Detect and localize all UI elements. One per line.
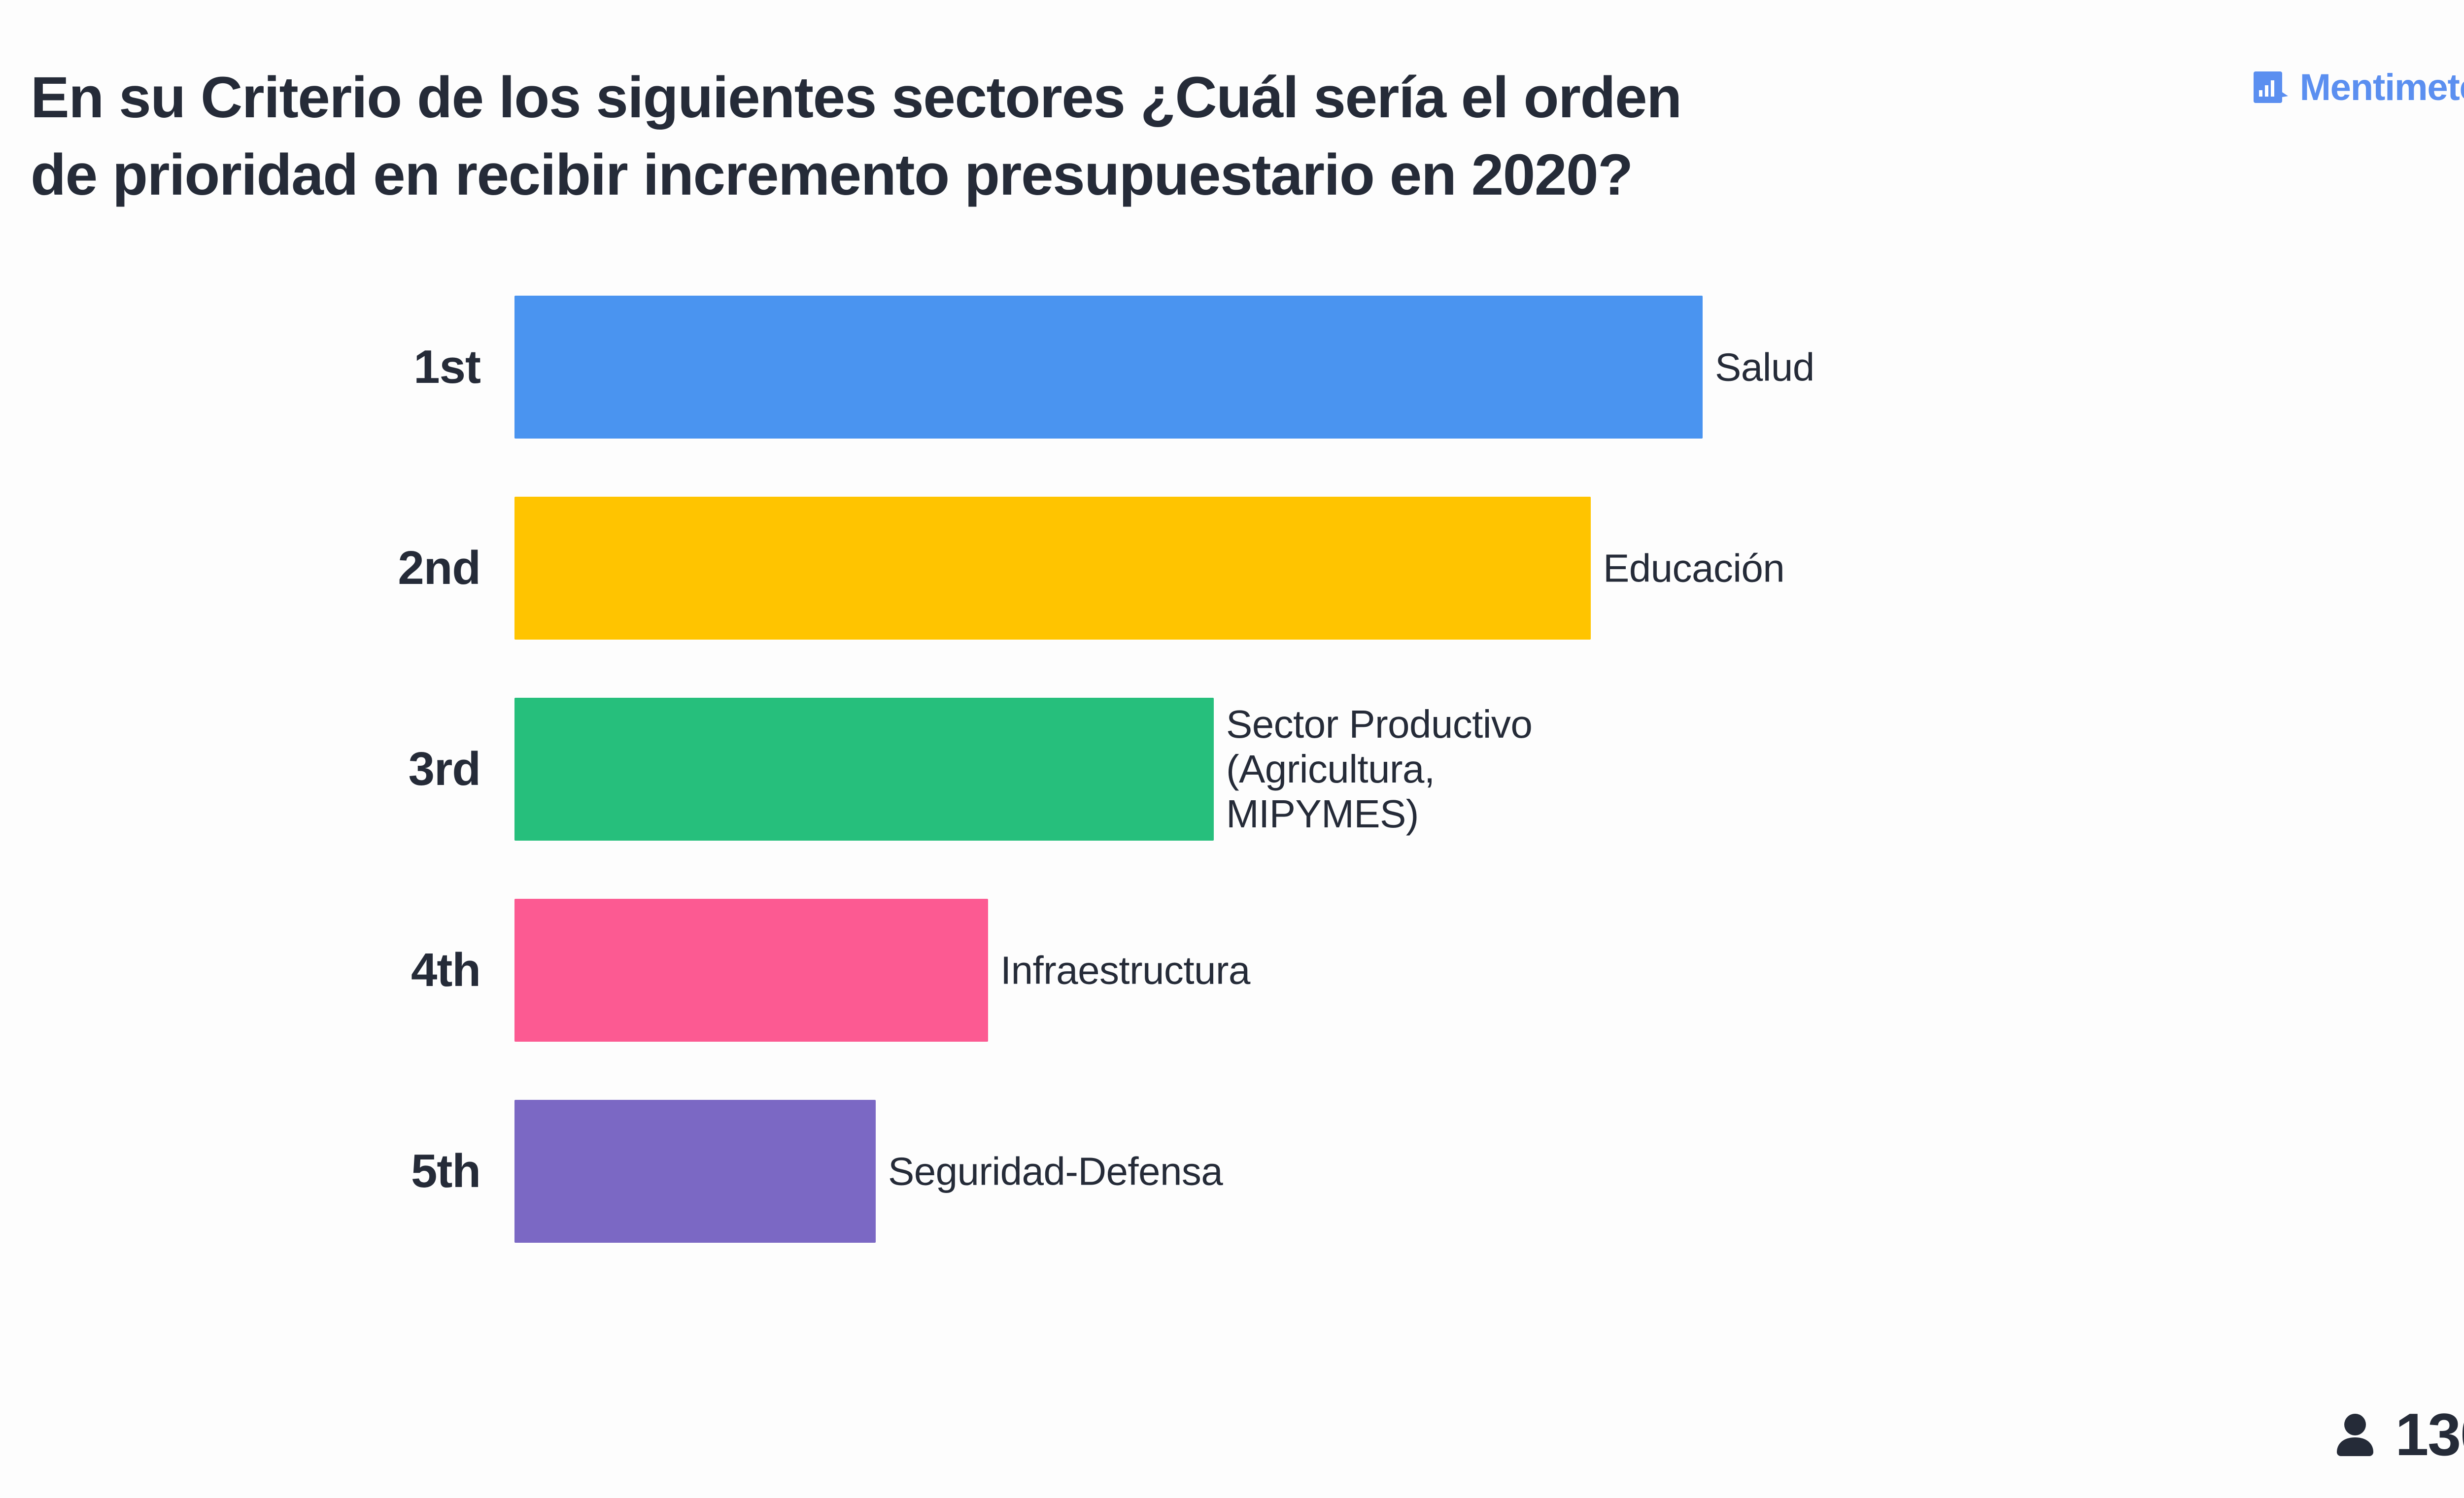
rank-label-2: 2nd bbox=[0, 545, 480, 592]
table-row: 1st Salud bbox=[0, 296, 2464, 439]
page-title: En su Criterio de los siguientes sectore… bbox=[31, 59, 2100, 214]
rank-label-5: 5th bbox=[0, 1148, 480, 1195]
rank-label-3: 3rd bbox=[0, 746, 480, 793]
ranking-bar-chart: 1st Salud 2nd Educación 3rd Sector Produ… bbox=[0, 296, 2464, 1301]
bar-label-sector-productivo: Sector Productivo (Agricultura, MIPYMES) bbox=[1226, 702, 1532, 837]
bar-educacion bbox=[514, 497, 1591, 640]
rank-label-1: 1st bbox=[0, 343, 480, 391]
bar-label-infraestructura: Infraestructura bbox=[1000, 948, 1250, 992]
mentimeter-brand: Mentimeter bbox=[2253, 69, 2464, 106]
participant-counter: 130 bbox=[2331, 1404, 2464, 1464]
bar-label-salud: Salud bbox=[1715, 344, 1814, 389]
table-row: 4th Infraestructura bbox=[0, 899, 2464, 1042]
mentimeter-wordmark: Mentimeter bbox=[2300, 69, 2464, 106]
table-row: 2nd Educación bbox=[0, 497, 2464, 640]
table-row: 5th Seguridad-Defensa bbox=[0, 1100, 2464, 1243]
mentimeter-logo-icon bbox=[2253, 69, 2289, 106]
bar-label-seguridad-defensa: Seguridad-Defensa bbox=[888, 1149, 1223, 1193]
bar-infraestructura bbox=[514, 899, 988, 1042]
participant-count: 130 bbox=[2395, 1404, 2464, 1464]
bar-label-educacion: Educación bbox=[1603, 545, 1784, 590]
table-row: 3rd Sector Productivo (Agricultura, MIPY… bbox=[0, 698, 2464, 841]
person-icon bbox=[2331, 1409, 2382, 1460]
bar-sector-productivo bbox=[514, 698, 1214, 841]
bar-seguridad-defensa bbox=[514, 1100, 876, 1243]
bar-salud bbox=[514, 296, 1703, 439]
rank-label-4: 4th bbox=[0, 947, 480, 994]
